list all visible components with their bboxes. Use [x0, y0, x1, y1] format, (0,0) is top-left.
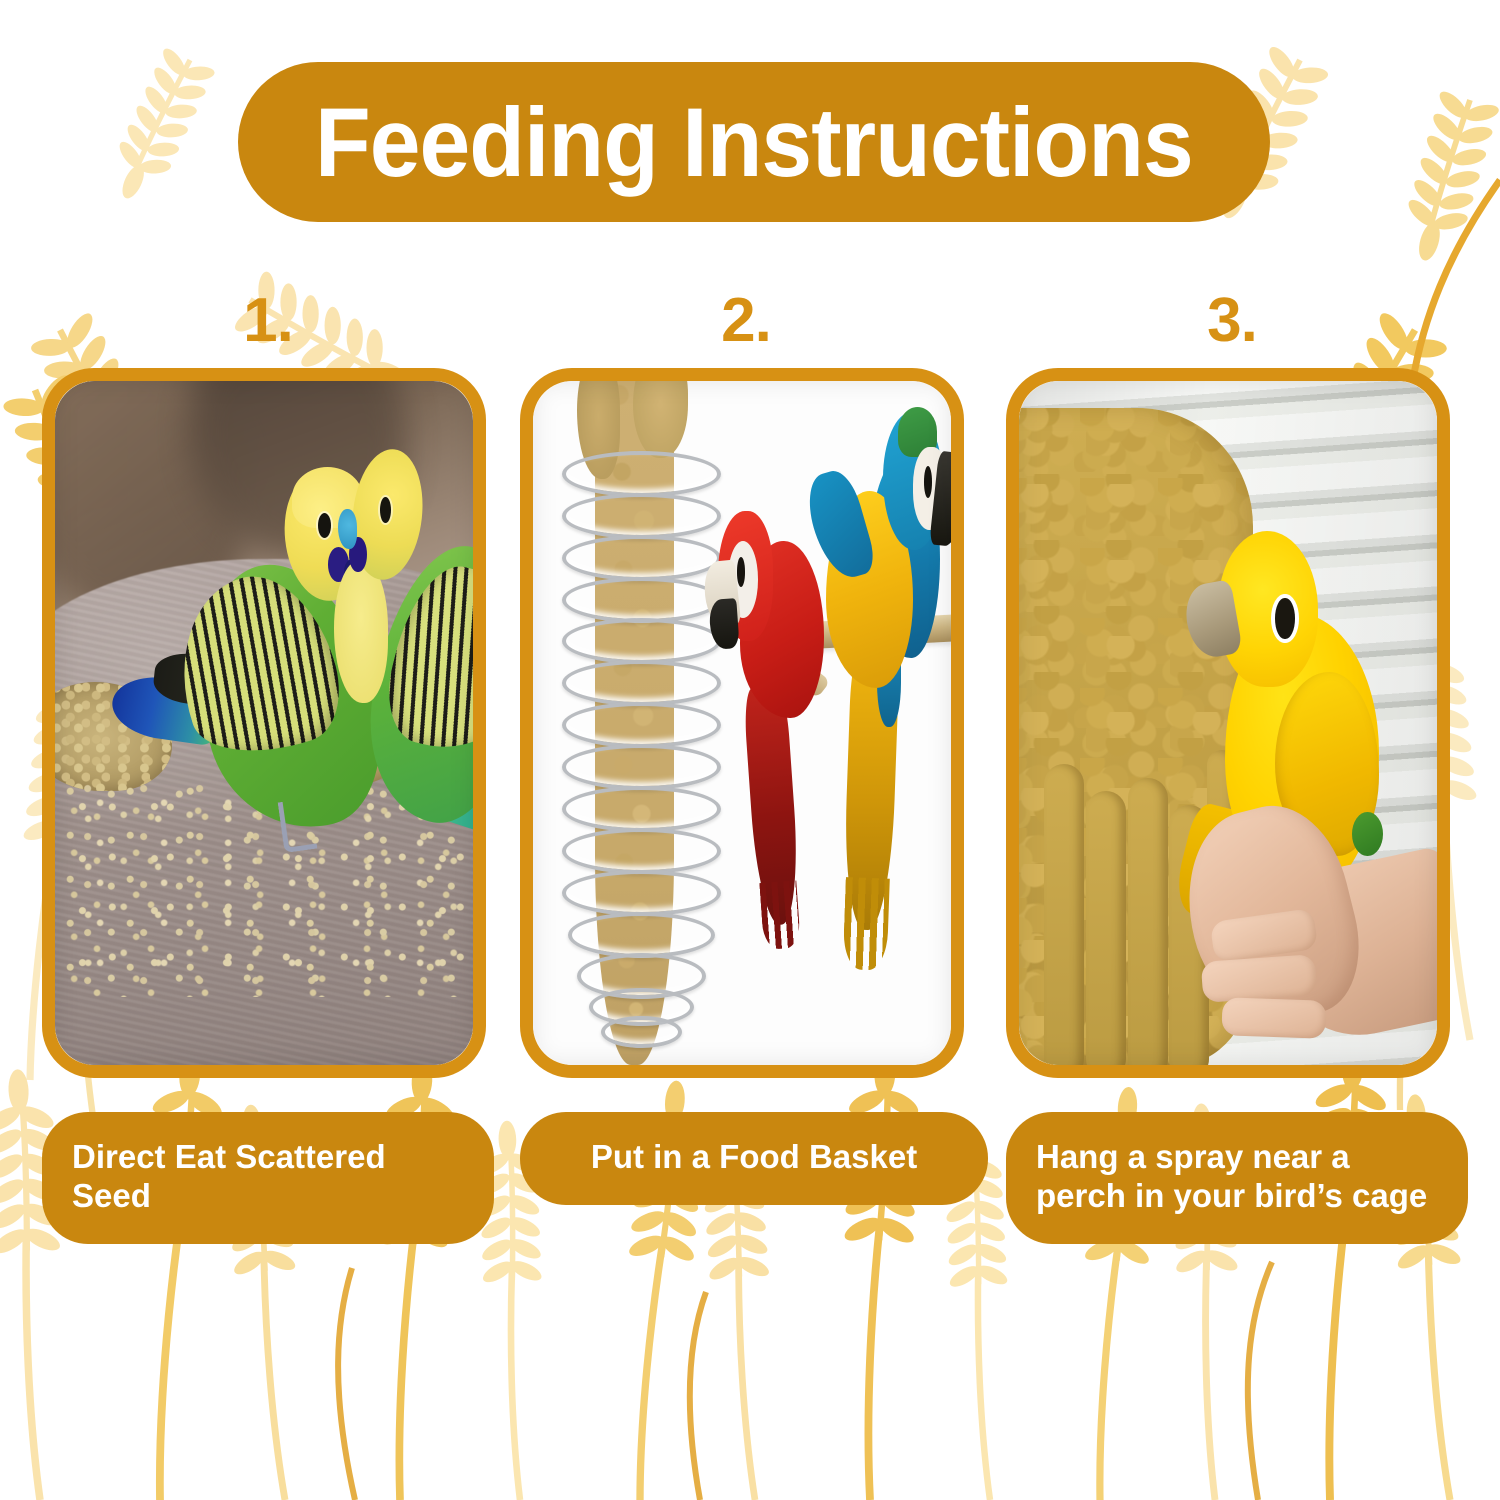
- step-3-caption-text: Hang a spray near a perch in your bird’s…: [1036, 1138, 1438, 1216]
- step-1-photo-budgerigars: [55, 381, 473, 1065]
- step-2-caption-text: Put in a Food Basket: [591, 1138, 917, 1177]
- budgerigar-right: [323, 449, 473, 846]
- step-1: 1.: [42, 290, 494, 1244]
- title-banner: Feeding Instructions: [238, 62, 1270, 222]
- step-2-caption: Put in a Food Basket: [520, 1112, 988, 1205]
- step-1-caption: Direct Eat Scattered Seed: [42, 1112, 494, 1244]
- step-3-photo-conure-on-hand: [1019, 381, 1437, 1065]
- steps-container: 1.: [0, 0, 1500, 1500]
- step-2-photo-food-basket: [533, 381, 951, 1065]
- step-1-photo-frame: [42, 368, 486, 1078]
- step-3-number: 3.: [1006, 290, 1458, 368]
- page-title: Feeding Instructions: [315, 93, 1193, 191]
- step-2: 2.: [520, 290, 972, 1205]
- step-1-caption-text: Direct Eat Scattered Seed: [72, 1138, 464, 1216]
- step-3-photo-frame: [1006, 368, 1450, 1078]
- blue-and-gold-macaw: [805, 422, 951, 914]
- step-3-caption: Hang a spray near a perch in your bird’s…: [1006, 1112, 1468, 1244]
- step-2-photo-frame: [520, 368, 964, 1078]
- macaw-pair: [713, 422, 951, 914]
- human-hand: [1186, 764, 1437, 1038]
- step-1-number: 1.: [42, 290, 494, 368]
- infographic-page: Feeding Instructions 1.: [0, 0, 1500, 1500]
- step-3: 3.: [1006, 290, 1458, 1244]
- step-2-number: 2.: [520, 290, 972, 368]
- spiral-food-basket: [562, 381, 712, 1065]
